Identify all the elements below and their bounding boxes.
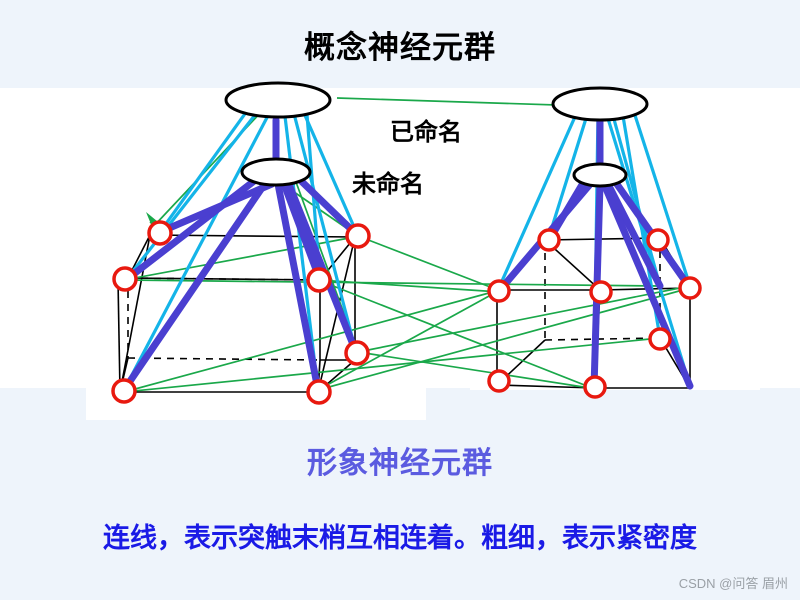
node <box>308 269 330 291</box>
node <box>489 281 509 301</box>
node <box>346 342 368 364</box>
node <box>149 222 171 244</box>
node <box>539 230 559 250</box>
left-named-ellipse <box>226 83 330 117</box>
node <box>489 371 509 391</box>
node <box>113 380 135 402</box>
neuron-nodes <box>113 222 700 403</box>
node <box>680 278 700 298</box>
label-named: 已命名 <box>390 112 462 147</box>
node <box>650 329 670 349</box>
left-unnamed-ellipse <box>242 159 310 185</box>
right-unnamed-ellipse <box>574 164 626 186</box>
slide-caption: 连线，表示突触末梢互相连着。粗细，表示紧密度 <box>0 516 800 555</box>
neuron-group-diagram <box>0 0 800 600</box>
node <box>585 377 605 397</box>
left-named-thin-links <box>124 102 358 390</box>
node <box>591 282 611 302</box>
node <box>114 268 136 290</box>
node <box>648 230 668 250</box>
node <box>347 225 369 247</box>
watermark: CSDN @问答 眉州 <box>679 573 788 592</box>
label-unnamed: 未命名 <box>352 164 424 199</box>
slide-canvas: 概念神经元群 已命名 未命名 形象神经元群 连线，表示突触末梢互相连着。粗细，表… <box>0 0 800 600</box>
slide-subtitle: 形象神经元群 <box>0 438 800 482</box>
page-title: 概念神经元群 <box>0 22 800 67</box>
node <box>308 381 330 403</box>
right-named-ellipse <box>553 88 647 120</box>
